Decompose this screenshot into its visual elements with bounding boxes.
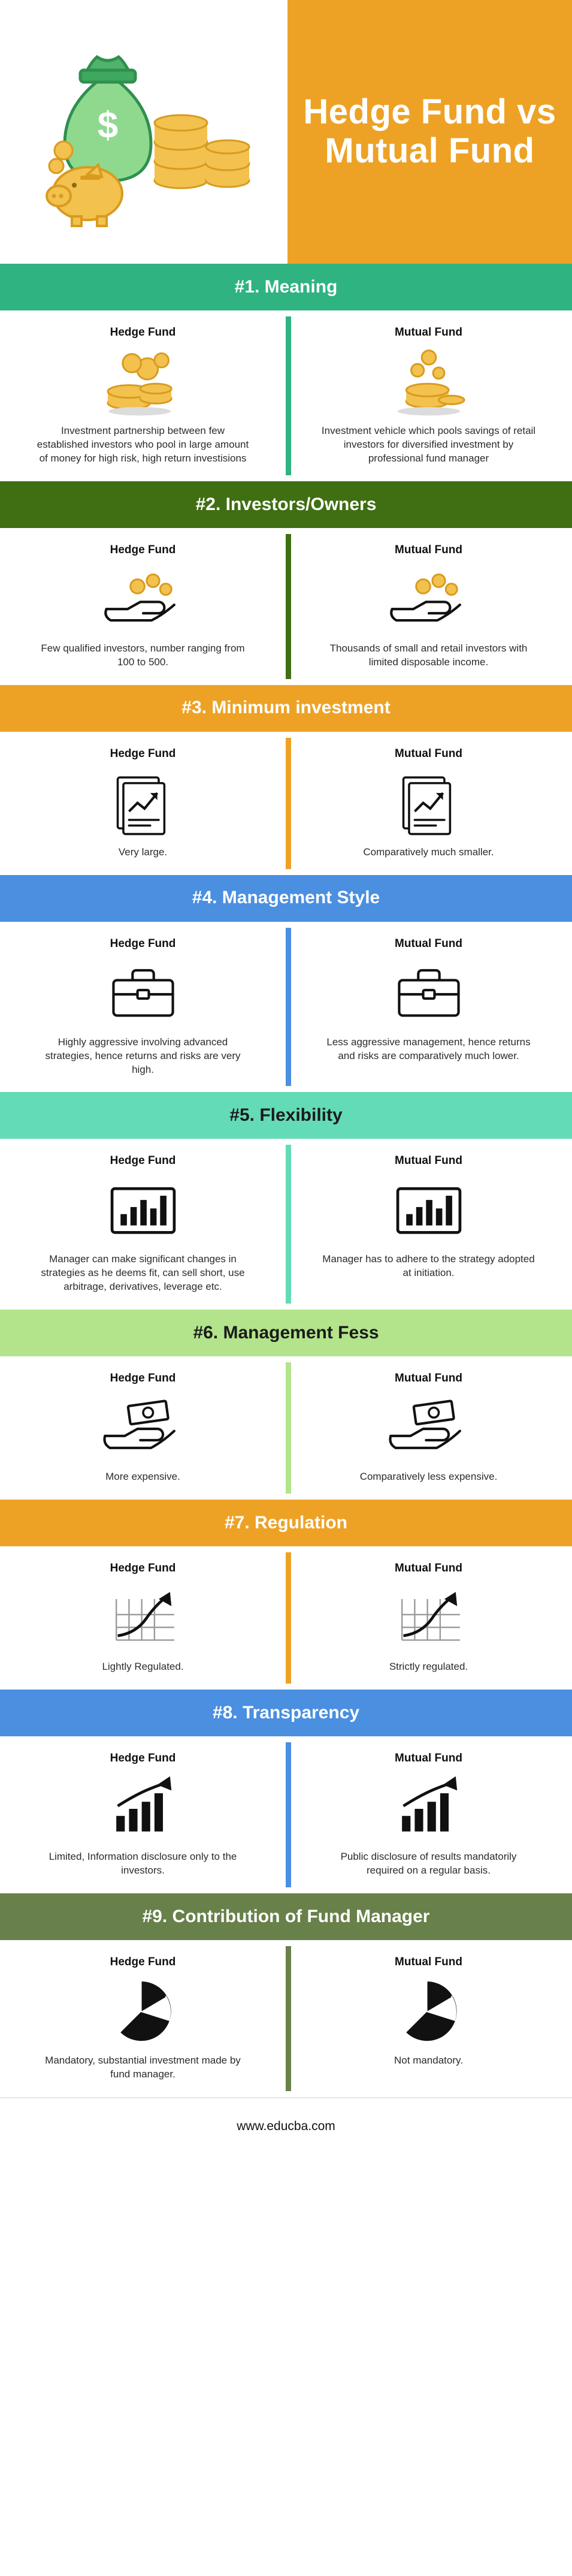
section-banner-title: #2. Investors/Owners [196, 494, 377, 516]
comparison-block: Hedge Fund Lightly Regulated.Mutual Fund [0, 1546, 572, 1690]
icon-mutual-fund [384, 1583, 474, 1654]
column-hedge-fund: Hedge Fund Investment partnership betwee… [0, 326, 286, 466]
icon-mutual-fund [384, 565, 474, 636]
line-graph-arrow-icon [98, 1583, 188, 1654]
column-hedge-fund: Hedge Fund Few qualified investors, numb… [0, 544, 286, 669]
column-header-hedge-fund: Hedge Fund [110, 1956, 176, 1969]
column-mutual-fund: Mutual Fund Manager has to adhere to the… [286, 1154, 571, 1294]
hand-holding-cash-icon [384, 1393, 474, 1464]
description-hedge-fund: Lightly Regulated. [102, 1660, 183, 1674]
icon-hedge-fund [98, 1977, 188, 2048]
briefcase-icon [384, 959, 474, 1030]
column-header-mutual-fund: Mutual Fund [395, 1562, 462, 1575]
column-header-mutual-fund: Mutual Fund [395, 747, 462, 761]
document-chart-icon [384, 769, 474, 840]
section-banner: #4. Management Style [0, 875, 572, 922]
section-banner-title: #7. Regulation [225, 1512, 347, 1534]
description-hedge-fund: Manager can make significant changes in … [35, 1253, 251, 1294]
section-banner: #7. Regulation [0, 1500, 572, 1546]
header: $ [0, 0, 572, 264]
column-header-mutual-fund: Mutual Fund [395, 1154, 462, 1168]
section-banner-title: #8. Transparency [213, 1702, 359, 1724]
column-mutual-fund: Mutual Fund Not mandatory. [286, 1956, 571, 2082]
falling-coins-icon [384, 348, 474, 418]
column-header-hedge-fund: Hedge Fund [110, 1752, 176, 1765]
column-mutual-fund: Mutual Fund Less aggressive management, … [286, 937, 571, 1077]
column-mutual-fund: Mutual Fund Comparatively much smaller. [286, 747, 571, 859]
section-banner: #9. Contribution of Fund Manager [0, 1893, 572, 1940]
description-mutual-fund: Thousands of small and retail investors … [321, 642, 537, 669]
comparison-block: Hedge Fund Investment partnership betwee… [0, 310, 572, 481]
column-header-hedge-fund: Hedge Fund [110, 326, 176, 339]
icon-mutual-fund [384, 1393, 474, 1464]
description-mutual-fund: Investment vehicle which pools savings o… [321, 424, 537, 466]
footer-url: www.educba.com [237, 2119, 335, 2134]
comparison-block: Hedge Fund Manager can make significant … [0, 1139, 572, 1310]
section-banner-title: #1. Meaning [235, 276, 338, 298]
section-banner-title: #9. Contribution of Fund Manager [143, 1906, 430, 1928]
section-banner: #1. Meaning [0, 264, 572, 310]
section-banner-title: #5. Flexibility [229, 1105, 342, 1127]
icon-mutual-fund [384, 348, 474, 418]
column-mutual-fund: Mutual Fund Comparatively less expensive… [286, 1372, 571, 1484]
header-illustration: $ [0, 0, 287, 264]
column-header-hedge-fund: Hedge Fund [110, 747, 176, 761]
column-hedge-fund: Hedge Fund Mandatory, substantial invest… [0, 1956, 286, 2082]
comparison-block: Hedge Fund Few qualified investors, numb… [0, 528, 572, 685]
column-header-mutual-fund: Mutual Fund [395, 544, 462, 557]
section-banner-title: #4. Management Style [192, 887, 380, 909]
stack-of-coins-icon [98, 348, 188, 418]
page-title: Hedge Fund vs Mutual Fund [287, 93, 572, 171]
column-header-mutual-fund: Mutual Fund [395, 1372, 462, 1385]
description-hedge-fund: Investment partnership between few estab… [35, 424, 251, 466]
column-hedge-fund: Hedge Fund More expensive. [0, 1372, 286, 1484]
pie-chart-icon [384, 1977, 474, 2048]
section-banner-title: #6. Management Fess [193, 1322, 379, 1344]
description-mutual-fund: Manager has to adhere to the strategy ad… [321, 1253, 537, 1280]
description-hedge-fund: Highly aggressive involving advanced str… [35, 1036, 251, 1077]
document-chart-icon [98, 769, 188, 840]
icon-mutual-fund [384, 1176, 474, 1247]
description-mutual-fund: Public disclosure of results mandatorily… [321, 1850, 537, 1878]
svg-text:$: $ [98, 105, 118, 146]
comparison-block: Hedge Fund Highly aggressive involving a… [0, 922, 572, 1093]
hand-holding-cash-icon [98, 1393, 188, 1464]
icon-hedge-fund [98, 1176, 188, 1247]
money-bag-coins-piggy-bank-illustration: $ [30, 33, 258, 231]
icon-hedge-fund [98, 1393, 188, 1464]
line-graph-arrow-icon [384, 1583, 474, 1654]
column-hedge-fund: Hedge Fund Limited, Information disclosu… [0, 1752, 286, 1878]
description-hedge-fund: Limited, Information disclosure only to … [35, 1850, 251, 1878]
column-hedge-fund: Hedge Fund Manager can make significant … [0, 1154, 286, 1294]
icon-hedge-fund [98, 348, 188, 418]
comparison-block: Hedge Fund Mandatory, substantial invest… [0, 1940, 572, 2097]
section-banner: #8. Transparency [0, 1690, 572, 1736]
column-divider [286, 1946, 291, 2091]
icon-hedge-fund [98, 1583, 188, 1654]
section-banner: #6. Management Fess [0, 1310, 572, 1356]
section-banner: #2. Investors/Owners [0, 481, 572, 528]
column-mutual-fund: Mutual Fund Thousands of small and retai… [286, 544, 571, 669]
bar-chart-monitor-icon [98, 1176, 188, 1247]
column-divider [286, 1742, 291, 1887]
column-header-mutual-fund: Mutual Fund [395, 326, 462, 339]
description-hedge-fund: Few qualified investors, number ranging … [35, 642, 251, 669]
icon-hedge-fund [98, 769, 188, 840]
column-divider [286, 928, 291, 1087]
column-header-hedge-fund: Hedge Fund [110, 937, 176, 951]
column-header-hedge-fund: Hedge Fund [110, 1562, 176, 1575]
section-banner-title: #3. Minimum investment [181, 697, 390, 719]
comparison-block: Hedge Fund Limited, Information disclosu… [0, 1736, 572, 1893]
icon-mutual-fund [384, 769, 474, 840]
infographic-page: $ [0, 0, 572, 2576]
column-header-mutual-fund: Mutual Fund [395, 1752, 462, 1765]
column-hedge-fund: Hedge Fund Very large. [0, 747, 286, 859]
column-divider [286, 316, 291, 475]
column-divider [286, 1145, 291, 1304]
description-hedge-fund: Very large. [119, 846, 167, 859]
column-mutual-fund: Mutual Fund Investment vehicle which poo… [286, 326, 571, 466]
footer: www.educba.com [0, 2097, 572, 2155]
hand-holding-coins-icon [98, 565, 188, 636]
column-header-hedge-fund: Hedge Fund [110, 544, 176, 557]
description-hedge-fund: More expensive. [105, 1470, 180, 1484]
column-header-mutual-fund: Mutual Fund [395, 937, 462, 951]
icon-mutual-fund [384, 1977, 474, 2048]
growing-bar-chart-arrow-icon [384, 1773, 474, 1844]
growing-bar-chart-arrow-icon [98, 1773, 188, 1844]
description-mutual-fund: Comparatively much smaller. [363, 846, 494, 859]
description-mutual-fund: Less aggressive management, hence return… [321, 1036, 537, 1063]
column-divider [286, 1362, 291, 1494]
column-divider [286, 1552, 291, 1684]
column-header-hedge-fund: Hedge Fund [110, 1154, 176, 1168]
briefcase-icon [98, 959, 188, 1030]
sections-container: #1. MeaningHedge Fund Investment partner… [0, 264, 572, 2097]
section-banner: #3. Minimum investment [0, 685, 572, 732]
column-mutual-fund: Mutual Fund Strictly regulated. [286, 1562, 571, 1674]
column-hedge-fund: Hedge Fund Lightly Regulated. [0, 1562, 286, 1674]
description-hedge-fund: Mandatory, substantial investment made b… [35, 2054, 251, 2082]
column-divider [286, 534, 291, 679]
column-header-mutual-fund: Mutual Fund [395, 1956, 462, 1969]
icon-mutual-fund [384, 959, 474, 1030]
icon-hedge-fund [98, 565, 188, 636]
icon-hedge-fund [98, 959, 188, 1030]
column-mutual-fund: Mutual Fund Public disclosure of results… [286, 1752, 571, 1878]
pie-chart-icon [98, 1977, 188, 2048]
column-divider [286, 738, 291, 869]
hand-holding-coins-icon [384, 565, 474, 636]
description-mutual-fund: Comparatively less expensive. [360, 1470, 498, 1484]
column-hedge-fund: Hedge Fund Highly aggressive involving a… [0, 937, 286, 1077]
icon-hedge-fund [98, 1773, 188, 1844]
section-banner: #5. Flexibility [0, 1092, 572, 1139]
column-header-hedge-fund: Hedge Fund [110, 1372, 176, 1385]
header-title-panel: Hedge Fund vs Mutual Fund [287, 0, 572, 264]
comparison-block: Hedge Fund More expensive.Mutual Fund Co… [0, 1356, 572, 1500]
description-mutual-fund: Not mandatory. [394, 2054, 463, 2068]
bar-chart-monitor-icon [384, 1176, 474, 1247]
icon-mutual-fund [384, 1773, 474, 1844]
description-mutual-fund: Strictly regulated. [389, 1660, 468, 1674]
comparison-block: Hedge Fund Very large.Mutual Fund [0, 732, 572, 875]
